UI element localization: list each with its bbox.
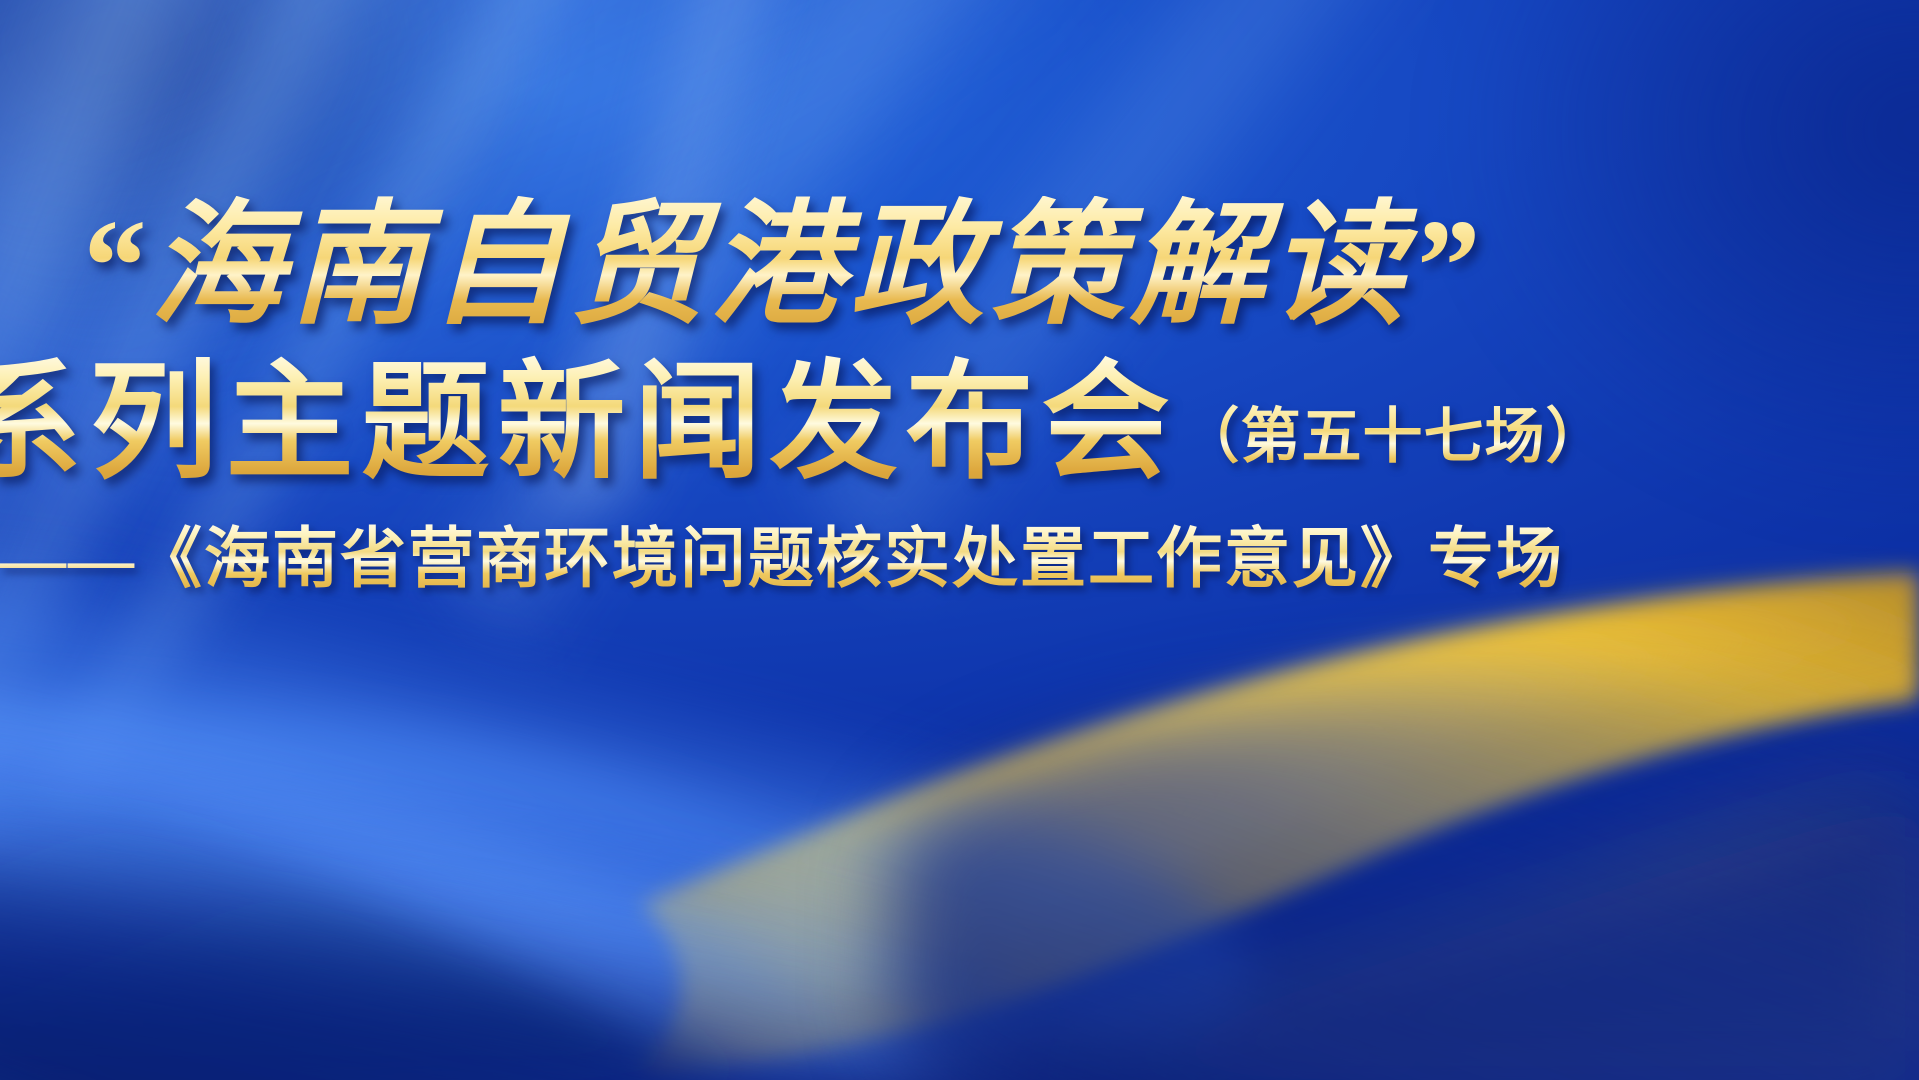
- subtitle: ——《海南省营商环境问题核实处置工作意见》专场: [0, 520, 1560, 599]
- main-title-line-1: “海南自贸港政策解读”: [0, 196, 1560, 337]
- session-number-label: （第五十七场）: [1180, 388, 1607, 495]
- press-conference-banner: “海南自贸港政策解读” 系列主题新闻发布会 （第五十七场） ——《海南省营商环境…: [0, 0, 1919, 1080]
- title-block: “海南自贸港政策解读” 系列主题新闻发布会 （第五十七场） ——《海南省营商环境…: [0, 0, 1919, 1080]
- main-title-line-2-row: 系列主题新闻发布会 （第五十七场）: [0, 352, 1560, 495]
- main-title-line-2: 系列主题新闻发布会: [0, 352, 1178, 495]
